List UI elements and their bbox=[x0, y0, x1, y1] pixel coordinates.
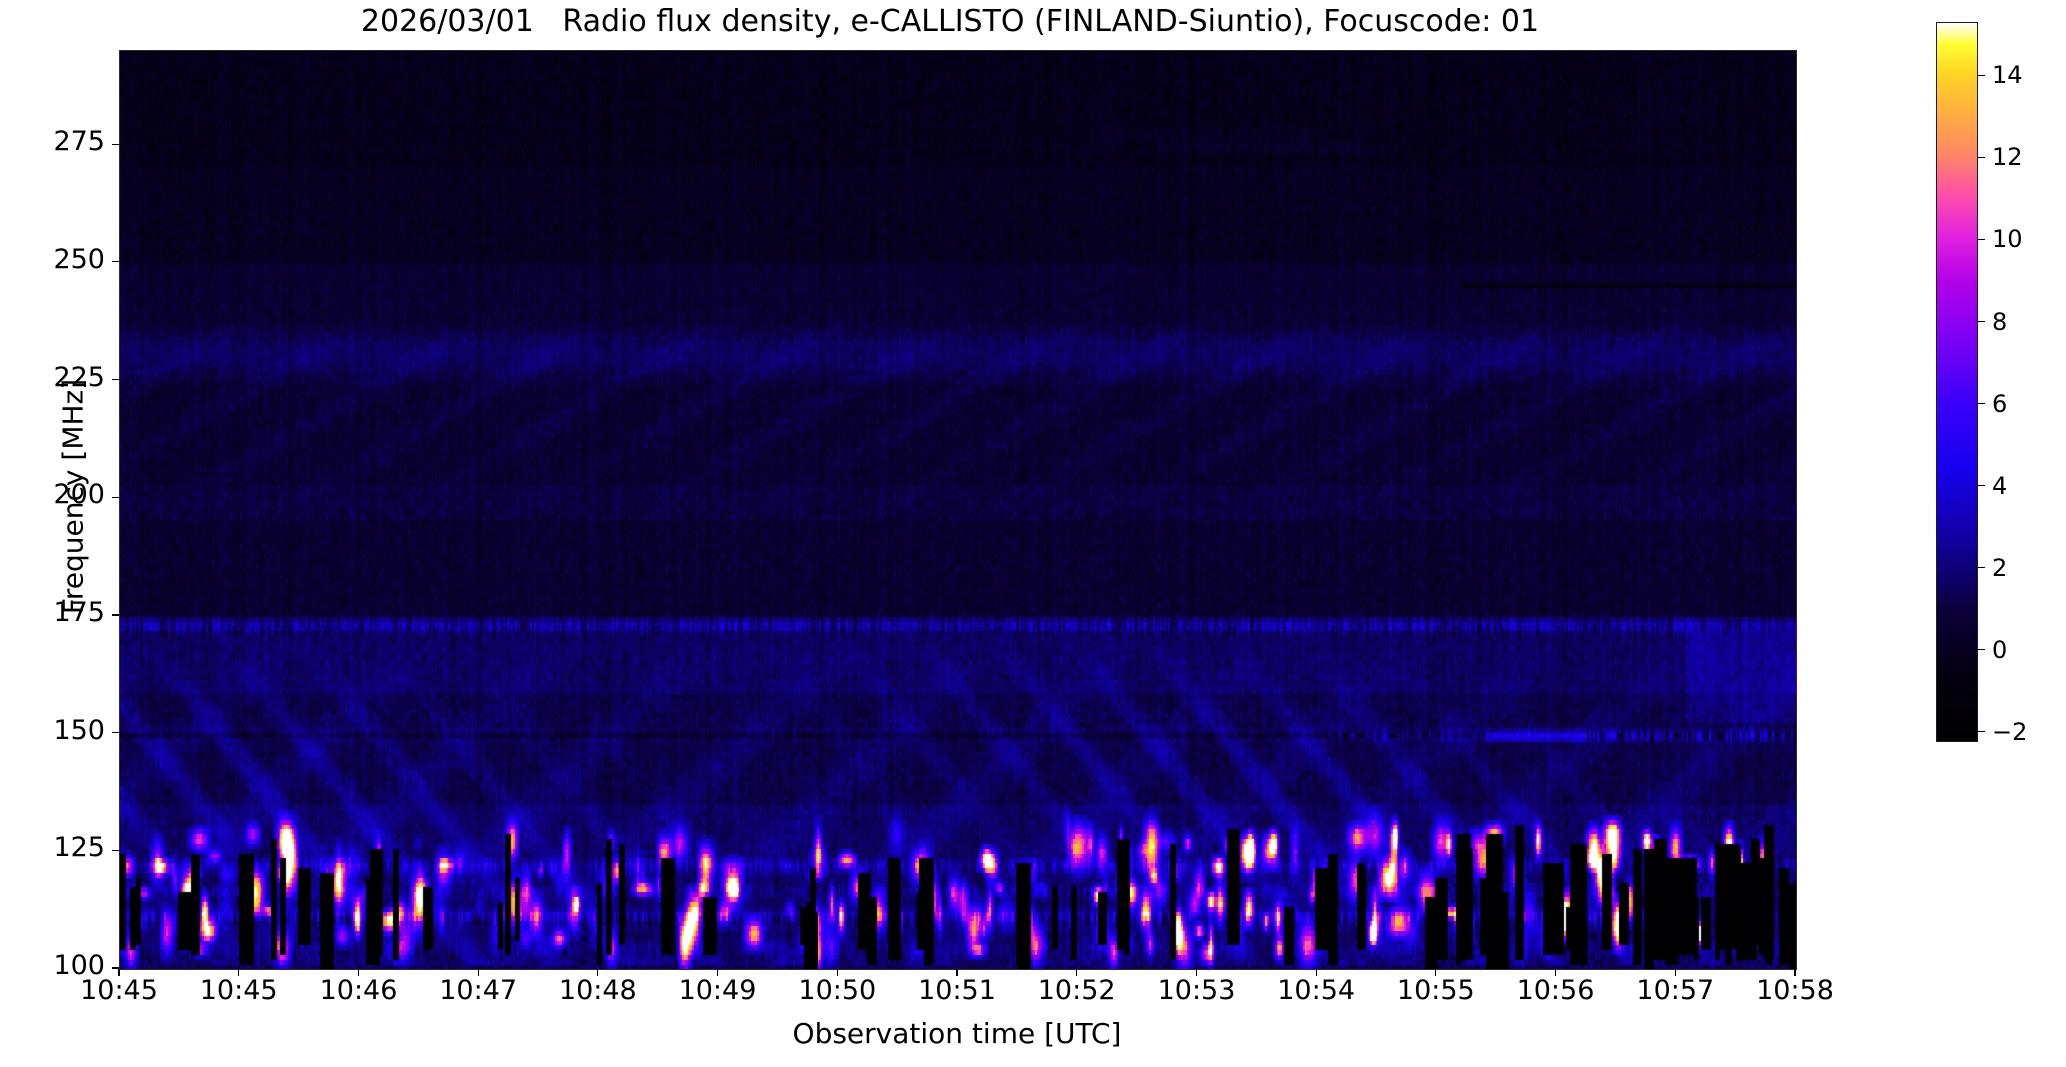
colorbar-tick-label: 0 bbox=[1992, 636, 2007, 664]
x-tick-label: 10:54 bbox=[1277, 975, 1355, 1006]
colorbar-tick-mark bbox=[1978, 321, 1985, 322]
x-tick-label: 10:45 bbox=[200, 975, 278, 1006]
page-title: 2026/03/01 Radio flux density, e-CALLIST… bbox=[0, 4, 1900, 39]
y-tick-label: 275 bbox=[0, 126, 105, 157]
x-tick-label: 10:52 bbox=[1038, 975, 1116, 1006]
y-tick-label: 125 bbox=[0, 832, 105, 863]
x-tick-label: 10:47 bbox=[439, 975, 517, 1006]
y-tick-mark bbox=[112, 850, 119, 851]
y-tick-mark bbox=[112, 261, 119, 262]
x-tick-label: 10:48 bbox=[559, 975, 637, 1006]
y-tick-label: 175 bbox=[0, 597, 105, 628]
y-tick-mark bbox=[112, 497, 119, 498]
y-tick-label: 200 bbox=[0, 479, 105, 510]
colorbar bbox=[1936, 22, 1978, 742]
y-tick-label: 225 bbox=[0, 362, 105, 393]
x-tick-label: 10:57 bbox=[1636, 975, 1714, 1006]
y-tick-label: 250 bbox=[0, 244, 105, 275]
colorbar-tick-label: 4 bbox=[1992, 472, 2007, 500]
x-axis-label: Observation time [UTC] bbox=[119, 1017, 1795, 1050]
y-tick-mark bbox=[112, 614, 119, 615]
colorbar-tick-mark bbox=[1978, 485, 1985, 486]
colorbar-tick-label: 10 bbox=[1992, 225, 2023, 253]
y-tick-mark bbox=[112, 732, 119, 733]
colorbar-tick-label: 14 bbox=[1992, 61, 2023, 89]
colorbar-tick-label: 2 bbox=[1992, 554, 2007, 582]
colorbar-tick-label: −2 bbox=[1992, 718, 2027, 746]
x-tick-label: 10:56 bbox=[1517, 975, 1595, 1006]
x-tick-label: 10:50 bbox=[798, 975, 876, 1006]
colorbar-tick-mark bbox=[1978, 75, 1985, 76]
x-tick-label: 10:58 bbox=[1756, 975, 1834, 1006]
spectrogram-image bbox=[120, 51, 1796, 969]
spectrogram-axes bbox=[119, 50, 1797, 970]
colorbar-gradient bbox=[1937, 23, 1977, 741]
x-tick-label: 10:53 bbox=[1158, 975, 1236, 1006]
y-tick-label: 150 bbox=[0, 715, 105, 746]
colorbar-tick-mark bbox=[1978, 731, 1985, 732]
colorbar-tick-mark bbox=[1978, 567, 1985, 568]
colorbar-tick-mark bbox=[1978, 239, 1985, 240]
x-tick-label: 10:45 bbox=[80, 975, 158, 1006]
colorbar-tick-label: 12 bbox=[1992, 143, 2023, 171]
x-tick-label: 10:46 bbox=[320, 975, 398, 1006]
x-tick-label: 10:55 bbox=[1397, 975, 1475, 1006]
colorbar-tick-mark bbox=[1978, 157, 1985, 158]
y-tick-mark bbox=[112, 379, 119, 380]
colorbar-tick-mark bbox=[1978, 649, 1985, 650]
colorbar-tick-label: 6 bbox=[1992, 390, 2007, 418]
colorbar-tick-mark bbox=[1978, 403, 1985, 404]
x-tick-label: 10:49 bbox=[679, 975, 757, 1006]
y-tick-mark bbox=[112, 144, 119, 145]
colorbar-tick-label: 8 bbox=[1992, 308, 2007, 336]
x-tick-label: 10:51 bbox=[918, 975, 996, 1006]
